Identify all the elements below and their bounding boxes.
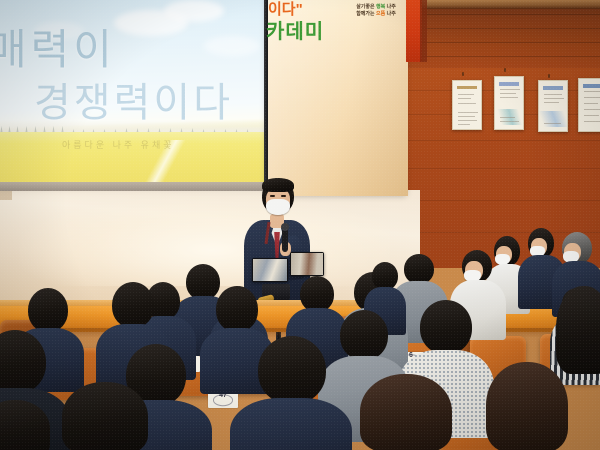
banner-title-main: 카데미 bbox=[266, 15, 324, 44]
audience-head bbox=[112, 282, 154, 328]
slogan1-post: 나주 bbox=[385, 4, 396, 10]
upper-wood-wall bbox=[404, 0, 600, 70]
audience-hair-long bbox=[486, 362, 568, 450]
poster-nail bbox=[548, 74, 550, 78]
slogan1-accent: 행복 bbox=[376, 4, 385, 10]
poster-nail bbox=[504, 68, 506, 72]
lecture-hall-photo: 매력이 경쟁력이다 아름다운 나주 유채꽃 이다" 카데미 살기좋은 행복 나주… bbox=[0, 0, 600, 450]
slide-headline-line1: 매력이 bbox=[0, 16, 116, 77]
audience-hair-long bbox=[556, 286, 600, 374]
microphone bbox=[282, 228, 288, 252]
presenter-face-mask bbox=[266, 199, 290, 215]
rig-monitor-left bbox=[252, 258, 288, 282]
presenter-eye-right bbox=[281, 195, 286, 197]
audience-torso bbox=[230, 398, 352, 450]
audience-head bbox=[340, 310, 388, 360]
slogan1-pre: 살기좋은 bbox=[356, 4, 376, 10]
banner-slogan-line2: 함께가는 으뜸 나주 bbox=[344, 11, 408, 18]
audience-head bbox=[28, 288, 68, 332]
slogan2-accent: 으뜸 bbox=[376, 11, 385, 17]
poster-4 bbox=[578, 78, 600, 132]
presenter-eye-left bbox=[270, 195, 275, 197]
slide-subtitle: 아름다운 나주 유채꽃 bbox=[62, 138, 175, 151]
audience-head bbox=[404, 254, 434, 284]
audience-head bbox=[420, 300, 472, 354]
audience-head bbox=[372, 262, 398, 290]
audience-hair-long bbox=[360, 374, 452, 450]
rig-monitor-right bbox=[290, 252, 324, 276]
audience-head bbox=[258, 336, 326, 404]
audience-hair-long bbox=[62, 382, 148, 450]
banner-slogan: 살기좋은 행복 나주 함께가는 으뜸 나주 bbox=[344, 4, 408, 19]
ceiling-trim bbox=[404, 0, 600, 9]
presenter-hair-fringe bbox=[262, 178, 294, 192]
poster-1 bbox=[452, 80, 482, 130]
seat-number-badge: 47 bbox=[208, 392, 238, 408]
audience-head bbox=[216, 286, 258, 332]
slogan2-post: 나주 bbox=[385, 11, 396, 17]
slide-headline-line2: 경쟁력이다 bbox=[34, 70, 233, 128]
poster-2 bbox=[494, 76, 524, 130]
audience-head bbox=[300, 276, 334, 312]
microphone-head bbox=[281, 223, 289, 231]
poster-nail bbox=[462, 72, 464, 76]
banner-accent-shadow bbox=[420, 0, 427, 62]
audience-head bbox=[186, 264, 220, 300]
slogan2-pre: 함께가는 bbox=[356, 11, 376, 17]
poster-3 bbox=[538, 80, 568, 132]
screen-bottom-edge bbox=[0, 182, 268, 191]
